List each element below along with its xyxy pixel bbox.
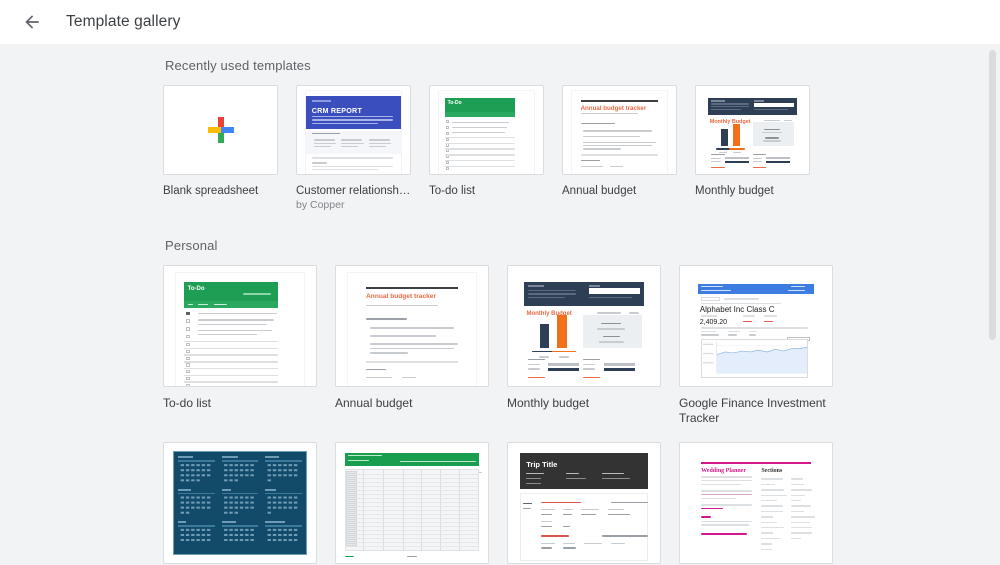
recently-used-row: Blank spreadsheet CRM REPORT: [0, 85, 1000, 212]
thumbnail-monthly-budget[interactable]: Monthly Budget: [695, 85, 810, 175]
thumbnail-travel-planner[interactable]: Trip Title: [507, 442, 661, 564]
annual-budget-rule: [581, 100, 659, 102]
annual-budget-title: Annual budget tracker: [366, 293, 436, 300]
crm-title: CRM REPORT: [312, 106, 362, 115]
page-title: Template gallery: [66, 13, 180, 31]
template-name: Annual budget: [335, 396, 489, 411]
section-recently-used: Recently used templates: [0, 58, 1000, 212]
template-card-annual-budget-personal[interactable]: Annual budget tracker: [335, 265, 489, 425]
wedding-rule: [701, 462, 811, 464]
template-name: Customer relationshi…: [296, 184, 411, 198]
annual-budget-rule: [366, 287, 458, 289]
template-author: by Copper: [296, 198, 411, 212]
monthly-budget-summary-card: [753, 122, 795, 146]
crm-kicker-rule: [312, 100, 331, 102]
template-card-travel-planner[interactable]: Trip Title: [507, 442, 661, 565]
thumbnail-crm-report[interactable]: CRM REPORT: [296, 85, 411, 175]
todo-title: To-Do: [448, 100, 462, 106]
template-name: Annual budget: [562, 184, 677, 198]
monthly-budget-bar-end: [557, 315, 566, 347]
trip-title: Trip Title: [526, 460, 557, 469]
section-personal: Personal To-Do: [0, 238, 1000, 565]
vertical-scrollbar-thumb[interactable]: [989, 50, 996, 340]
template-card-annual-budget[interactable]: Annual budget tracker: [562, 85, 677, 212]
google-plus-icon: [164, 86, 277, 174]
wedding-sections-title: Sections: [761, 468, 782, 474]
thumbnail-wedding-planner[interactable]: Wedding Planner Sections: [679, 442, 833, 564]
template-name: To-do list: [429, 184, 544, 198]
template-name: Monthly budget: [507, 396, 661, 411]
personal-row-1: To-Do: [0, 265, 1000, 425]
template-card-blank-spreadsheet[interactable]: Blank spreadsheet: [163, 85, 278, 212]
thumbnail-monthly-budget-personal[interactable]: Monthly Budget: [507, 265, 661, 387]
section-title-personal: Personal: [165, 238, 1000, 253]
monthly-budget-page: Monthly Budget: [703, 92, 802, 171]
template-card-monthly-budget-personal[interactable]: Monthly Budget: [507, 265, 661, 425]
finance-title: Alphabet Inc Class C: [700, 305, 775, 314]
monthly-budget-summary-card: [583, 315, 642, 347]
schedule-grid: [345, 469, 479, 551]
monthly-budget-bar-start: [540, 324, 549, 348]
todo-page: To-Do: [176, 273, 304, 386]
template-card-monthly-budget[interactable]: Monthly Budget: [695, 85, 810, 212]
template-gallery-scroll-area[interactable]: Recently used templates: [0, 44, 1000, 565]
template-name: Monthly budget: [695, 184, 810, 198]
thumbnail-to-do-list-personal[interactable]: To-Do: [163, 265, 317, 387]
template-card-annual-calendar[interactable]: [163, 442, 317, 565]
template-card-wedding-planner[interactable]: Wedding Planner Sections: [679, 442, 833, 565]
wedding-title: Wedding Planner: [701, 468, 746, 474]
finance-line-chart: [701, 339, 808, 378]
section-title-recently-used: Recently used templates: [165, 58, 1000, 73]
todo-page: To-Do: [439, 91, 534, 174]
personal-row-2: Trip Title: [0, 442, 1000, 565]
template-card-daily-schedule[interactable]: [335, 442, 489, 565]
monthly-budget-page: Monthly Budget: [517, 274, 651, 382]
annual-budget-title: Annual budget tracker: [581, 105, 647, 112]
template-card-google-finance-investment-tracker[interactable]: Alphabet Inc Class C 2,409.20: [679, 265, 833, 425]
template-card-to-do-list-personal[interactable]: To-Do: [163, 265, 317, 425]
template-name: To-do list: [163, 396, 317, 411]
finance-page: Alphabet Inc Class C 2,409.20: [689, 274, 823, 382]
calendar-board: [173, 451, 307, 554]
template-card-customer-relationship[interactable]: CRM REPORT: [296, 85, 411, 212]
wedding-page: Wedding Planner Sections: [689, 451, 823, 559]
monthly-budget-title: Monthly Budget: [710, 119, 751, 125]
back-arrow-icon: [22, 12, 42, 32]
todo-green-subheader: [445, 112, 515, 117]
thumbnail-blank-spreadsheet[interactable]: [163, 85, 278, 175]
monthly-budget-bar-end: [733, 124, 740, 146]
thumbnail-google-finance[interactable]: Alphabet Inc Class C 2,409.20: [679, 265, 833, 387]
monthly-budget-bar-start: [721, 129, 728, 146]
annual-budget-page: Annual budget tracker: [572, 91, 667, 174]
template-name: Google Finance Investment Tracker: [679, 396, 833, 425]
trip-body: [520, 493, 648, 560]
thumbnail-annual-budget[interactable]: Annual budget tracker: [562, 85, 677, 175]
thumbnail-annual-calendar[interactable]: [163, 442, 317, 564]
todo-title: To-Do: [188, 286, 205, 292]
crm-page: CRM REPORT: [306, 91, 401, 174]
vertical-scrollbar-track[interactable]: [985, 44, 1000, 565]
template-name: Blank spreadsheet: [163, 184, 278, 198]
template-card-to-do-list[interactable]: To-Do: [429, 85, 544, 212]
finance-value: 2,409.20: [700, 319, 727, 326]
thumbnail-daily-schedule[interactable]: [335, 442, 489, 564]
thumbnail-annual-budget-personal[interactable]: Annual budget tracker: [335, 265, 489, 387]
thumbnail-to-do-list[interactable]: To-Do: [429, 85, 544, 175]
annual-budget-page: Annual budget tracker: [348, 273, 476, 386]
back-button[interactable]: [12, 2, 52, 42]
app-header: Template gallery: [0, 0, 1000, 44]
